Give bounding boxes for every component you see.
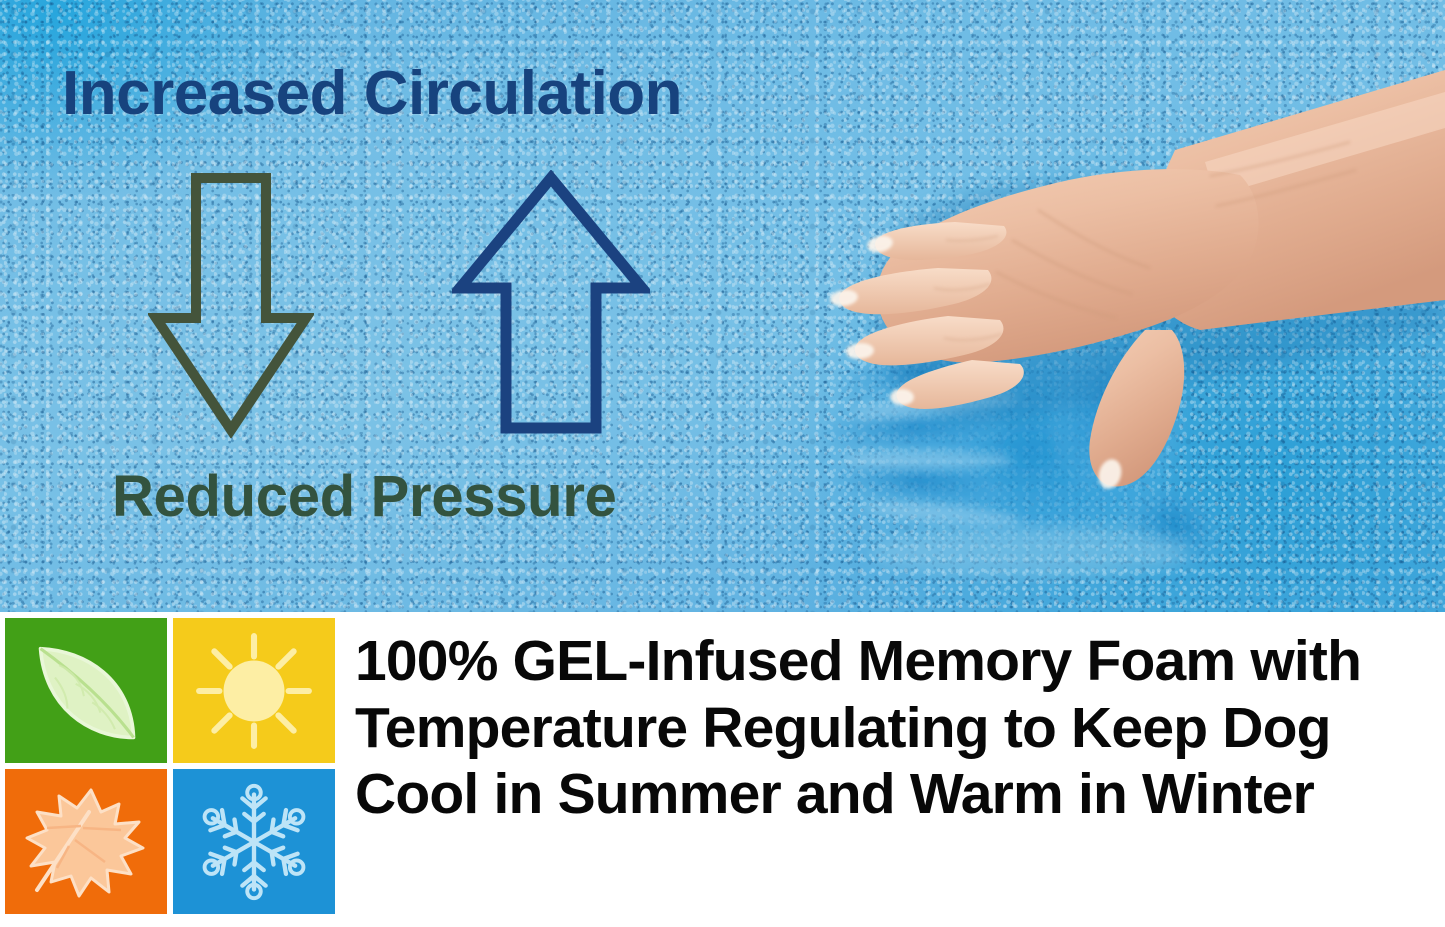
season-tile-spring bbox=[5, 618, 167, 763]
season-tile-summer bbox=[173, 618, 335, 763]
snowflake-icon bbox=[191, 779, 317, 905]
season-icon-grid bbox=[5, 618, 335, 918]
maple-leaf-icon bbox=[21, 782, 151, 902]
benefit-headline: 100% GEL-Infused Memory Foam with Temper… bbox=[355, 628, 1435, 828]
up-arrow-icon bbox=[452, 170, 650, 438]
increased-circulation-label: Increased Circulation bbox=[62, 58, 682, 129]
benefit-panel: 100% GEL-Infused Memory Foam with Temper… bbox=[0, 612, 1445, 927]
sun-icon bbox=[193, 630, 315, 752]
handprint-impression bbox=[815, 300, 1245, 600]
memory-foam-photo-panel: Increased Circulation Reduced Pressure bbox=[0, 0, 1445, 612]
season-tile-winter bbox=[173, 769, 335, 914]
season-tile-autumn bbox=[5, 769, 167, 914]
leaf-icon bbox=[24, 634, 148, 748]
feature-graphic-page: Increased Circulation Reduced Pressure bbox=[0, 0, 1445, 927]
reduced-pressure-label: Reduced Pressure bbox=[112, 463, 617, 530]
down-arrow-icon bbox=[148, 172, 314, 438]
